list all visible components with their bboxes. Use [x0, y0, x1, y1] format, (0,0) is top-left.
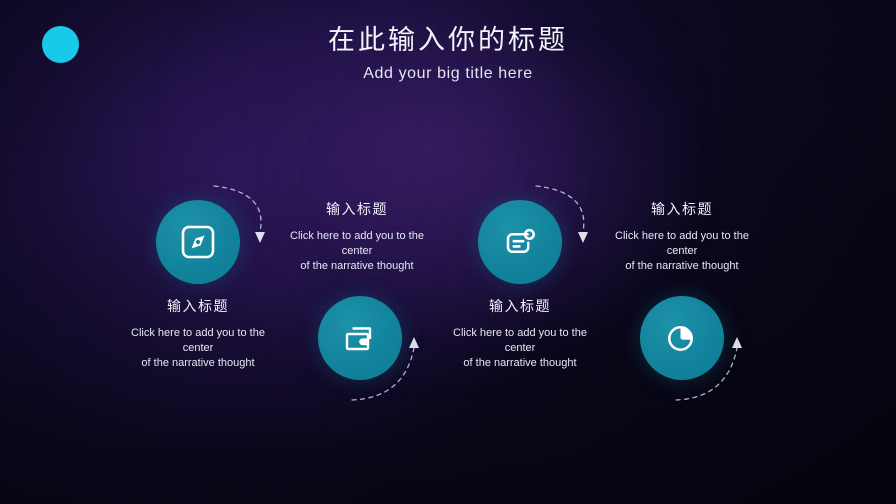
page-title-cn: 在此输入你的标题: [0, 23, 896, 59]
item-body-1-line1: Click here to add you to the: [83, 326, 313, 341]
item-circle-4[interactable]: [640, 296, 724, 380]
item-caption-4: 输入标题 Click here to add you to the center…: [567, 200, 797, 274]
item-body-4-line1: Click here to add you to the: [567, 229, 797, 244]
item-circle-3[interactable]: [478, 200, 562, 284]
item-title-2: 输入标题: [242, 200, 472, 220]
item-circle-1[interactable]: [156, 200, 240, 284]
item-caption-3: 输入标题 Click here to add you to the center…: [405, 297, 635, 371]
item-body-2-line3: of the narrative thought: [242, 259, 472, 274]
item-title-4: 输入标题: [567, 200, 797, 220]
item-body-4: Click here to add you to the center of t…: [567, 229, 797, 274]
item-body-3-line2: center: [405, 341, 635, 356]
item-body-1-line2: center: [83, 341, 313, 356]
wallet-icon: [337, 315, 383, 361]
pie-chart-icon: [659, 315, 705, 361]
item-body-1: Click here to add you to the center of t…: [83, 326, 313, 371]
contact-card-icon: [497, 219, 543, 265]
item-body-4-line3: of the narrative thought: [567, 259, 797, 274]
item-body-2-line1: Click here to add you to the: [242, 229, 472, 244]
slide-canvas: 在此输入你的标题 Add your big title here: [0, 0, 896, 504]
title-block: 在此输入你的标题 Add your big title here: [0, 23, 896, 84]
item-body-3-line3: of the narrative thought: [405, 356, 635, 371]
item-caption-1: 输入标题 Click here to add you to the center…: [83, 297, 313, 371]
page-subtitle-en: Add your big title here: [0, 64, 896, 84]
item-body-3: Click here to add you to the center of t…: [405, 326, 635, 371]
item-body-3-line1: Click here to add you to the: [405, 326, 635, 341]
item-body-1-line3: of the narrative thought: [83, 356, 313, 371]
item-title-3: 输入标题: [405, 297, 635, 317]
item-circle-2[interactable]: [318, 296, 402, 380]
item-caption-2: 输入标题 Click here to add you to the center…: [242, 200, 472, 274]
item-body-2-line2: center: [242, 244, 472, 259]
item-title-1: 输入标题: [83, 297, 313, 317]
compass-icon: [175, 219, 221, 265]
item-body-4-line2: center: [567, 244, 797, 259]
item-body-2: Click here to add you to the center of t…: [242, 229, 472, 274]
